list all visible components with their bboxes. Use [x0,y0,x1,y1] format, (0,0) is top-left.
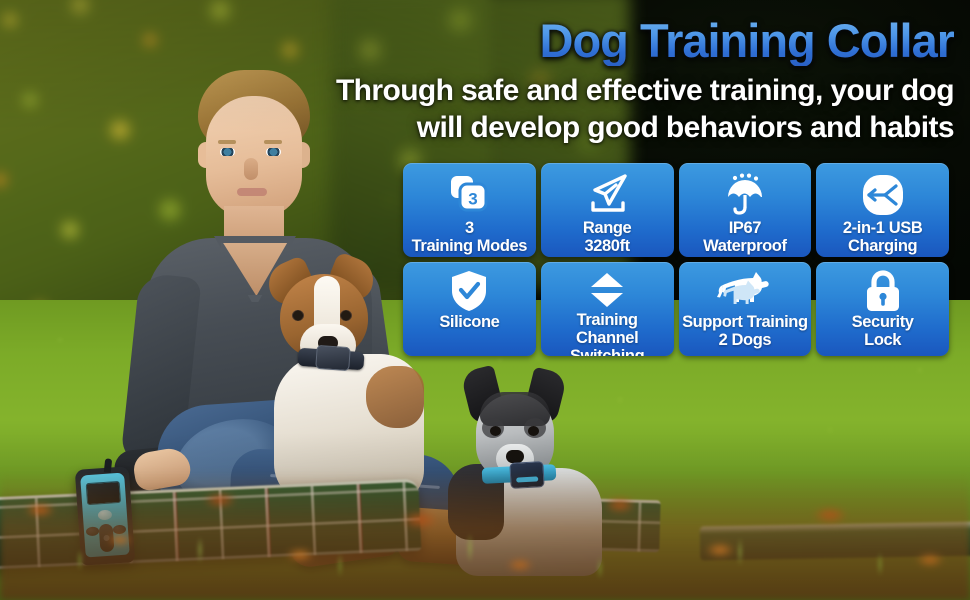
feature-line2: Training Modes [406,237,533,255]
feature-line1: 3 [406,219,533,237]
foreground-grass-blades [0,520,970,600]
feature-line2: Waterproof [682,237,809,255]
feature-line2: 2 Dogs [682,331,809,349]
feature-card-two-dogs[interactable]: Support Training 2 Dogs [679,262,812,356]
page-title: Dog Training Collar [388,16,954,66]
feature-card-waterproof[interactable]: IP67 Waterproof [679,163,812,257]
up-down-arrows-icon [585,270,629,310]
subtitle-line-2: will develop good behaviors and habits [254,109,954,146]
feature-line2: Charging [819,237,946,255]
man-nose [244,158,258,180]
padlock-icon [864,270,902,312]
dog2-left-eye [490,426,501,436]
feature-label-usb-charging: 2-in-1 USB Charging [816,219,949,255]
subtitle: Through safe and effective training, you… [254,72,954,146]
feature-label-channel-switching: Training Channel Switching [541,311,674,356]
feature-card-security-lock[interactable]: Security Lock [816,262,949,356]
svg-text:3: 3 [469,190,478,209]
subtitle-line-1: Through safe and effective training, you… [254,72,954,109]
product-banner: Dog Training Collar Through safe and eff… [0,0,970,600]
feature-line1: Training Channel [544,311,671,347]
feature-card-grid: 3 3 Training Modes Range 3280ft [403,163,949,356]
feature-line1: Security [819,313,946,331]
feature-line1: Support Training [682,313,809,331]
umbrella-waterproof-icon [722,172,768,218]
feature-label-silicone: Silicone [403,313,536,331]
feature-line1: IP67 [682,219,809,237]
feature-label-waterproof: IP67 Waterproof [679,219,812,255]
dog1-left-eye [292,310,304,321]
feature-label-training-modes: 3 Training Modes [403,219,536,255]
feature-label-security-lock: Security Lock [816,313,949,349]
dog1-brown-patch [366,366,424,428]
man-left-eye [220,148,235,156]
man-mouth [237,188,267,196]
feature-line2: Lock [819,331,946,349]
feature-line1: 2-in-1 USB [819,219,946,237]
usb-charging-icon [861,172,905,218]
feature-line1: Range [544,219,671,237]
feature-card-channel-switching[interactable]: Training Channel Switching [541,262,674,356]
dog1-right-eye [340,310,352,321]
feature-line1: Silicone [406,313,533,331]
dog2-right-eye [528,426,539,436]
stacked-modes-icon: 3 [447,172,491,218]
dog2-nose [506,450,524,463]
feature-card-usb-charging[interactable]: 2-in-1 USB Charging [816,163,949,257]
signal-range-icon [584,172,630,218]
dog1-collar-receiver [315,345,351,371]
feature-line2: 3280ft [544,237,671,255]
feature-card-silicone[interactable]: Silicone [403,262,536,356]
feature-card-training-modes[interactable]: 3 3 Training Modes [403,163,536,257]
man-left-eyebrow [218,140,236,144]
feature-card-range[interactable]: Range 3280ft [541,163,674,257]
shield-check-icon [448,270,490,312]
two-dogs-icon [716,270,774,312]
feature-label-two-dogs: Support Training 2 Dogs [679,313,812,349]
man-right-eye [266,148,281,156]
feature-line2: Switching [544,347,671,356]
feature-label-range: Range 3280ft [541,219,674,255]
